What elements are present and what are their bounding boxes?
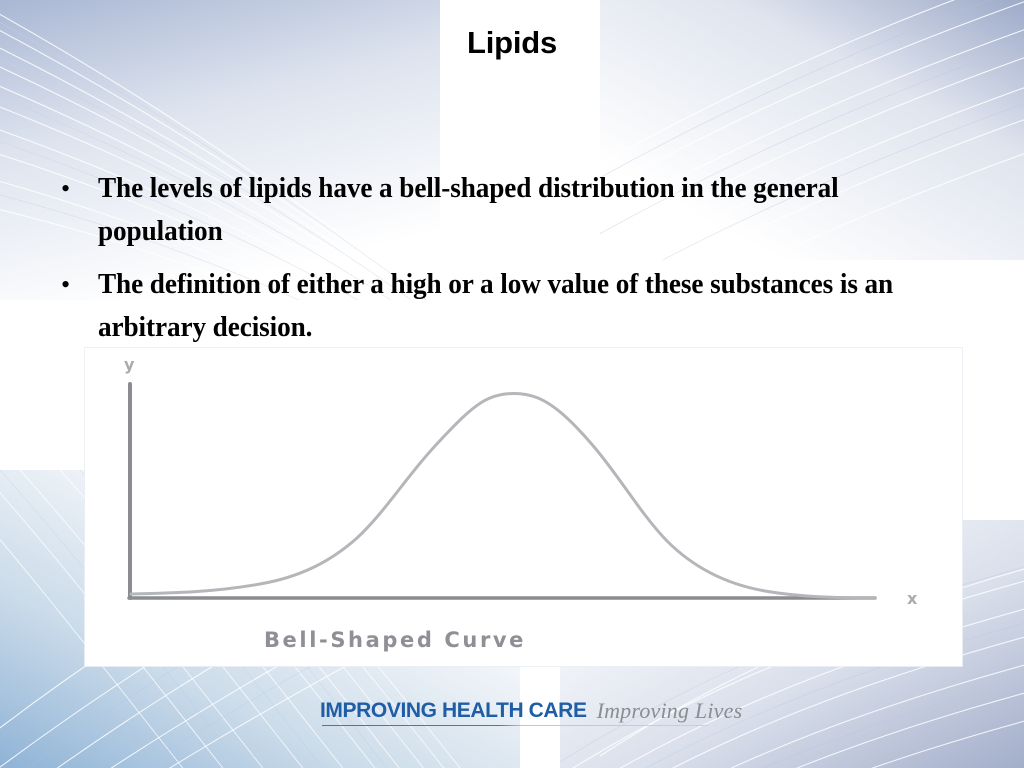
logo-primary-text: IMPROVING HEALTH CARE (320, 699, 587, 723)
bell-curve-plot: y x (85, 348, 962, 666)
bell-curve-figure: y x Bell-Shaped Curve (85, 348, 962, 666)
bullet-text: The levels of lipids have a bell-shaped … (98, 167, 921, 253)
bullet-list: • The levels of lipids have a bell-shape… (55, 167, 960, 359)
bell-curve-path (131, 394, 875, 599)
bullet-marker-icon: • (55, 167, 98, 210)
bullet-marker-icon: • (55, 263, 98, 306)
footer-logo: IMPROVING HEALTH CARE Improving Lives (320, 697, 710, 739)
y-axis-label-icon: y (124, 355, 135, 374)
list-item: • The levels of lipids have a bell-shape… (55, 167, 960, 253)
list-item: • The definition of either a high or a l… (55, 263, 960, 349)
chart-caption: Bell-Shaped Curve (85, 628, 705, 652)
bullet-text: The definition of either a high or a low… (98, 263, 921, 349)
slide-title: Lipids (0, 26, 1024, 60)
slide-canvas: Lipids • The levels of lipids have a bel… (0, 0, 1024, 768)
logo-underline-divider (322, 725, 708, 726)
logo-secondary-text: Improving Lives (597, 698, 743, 724)
x-axis-label-icon: x (907, 589, 918, 608)
